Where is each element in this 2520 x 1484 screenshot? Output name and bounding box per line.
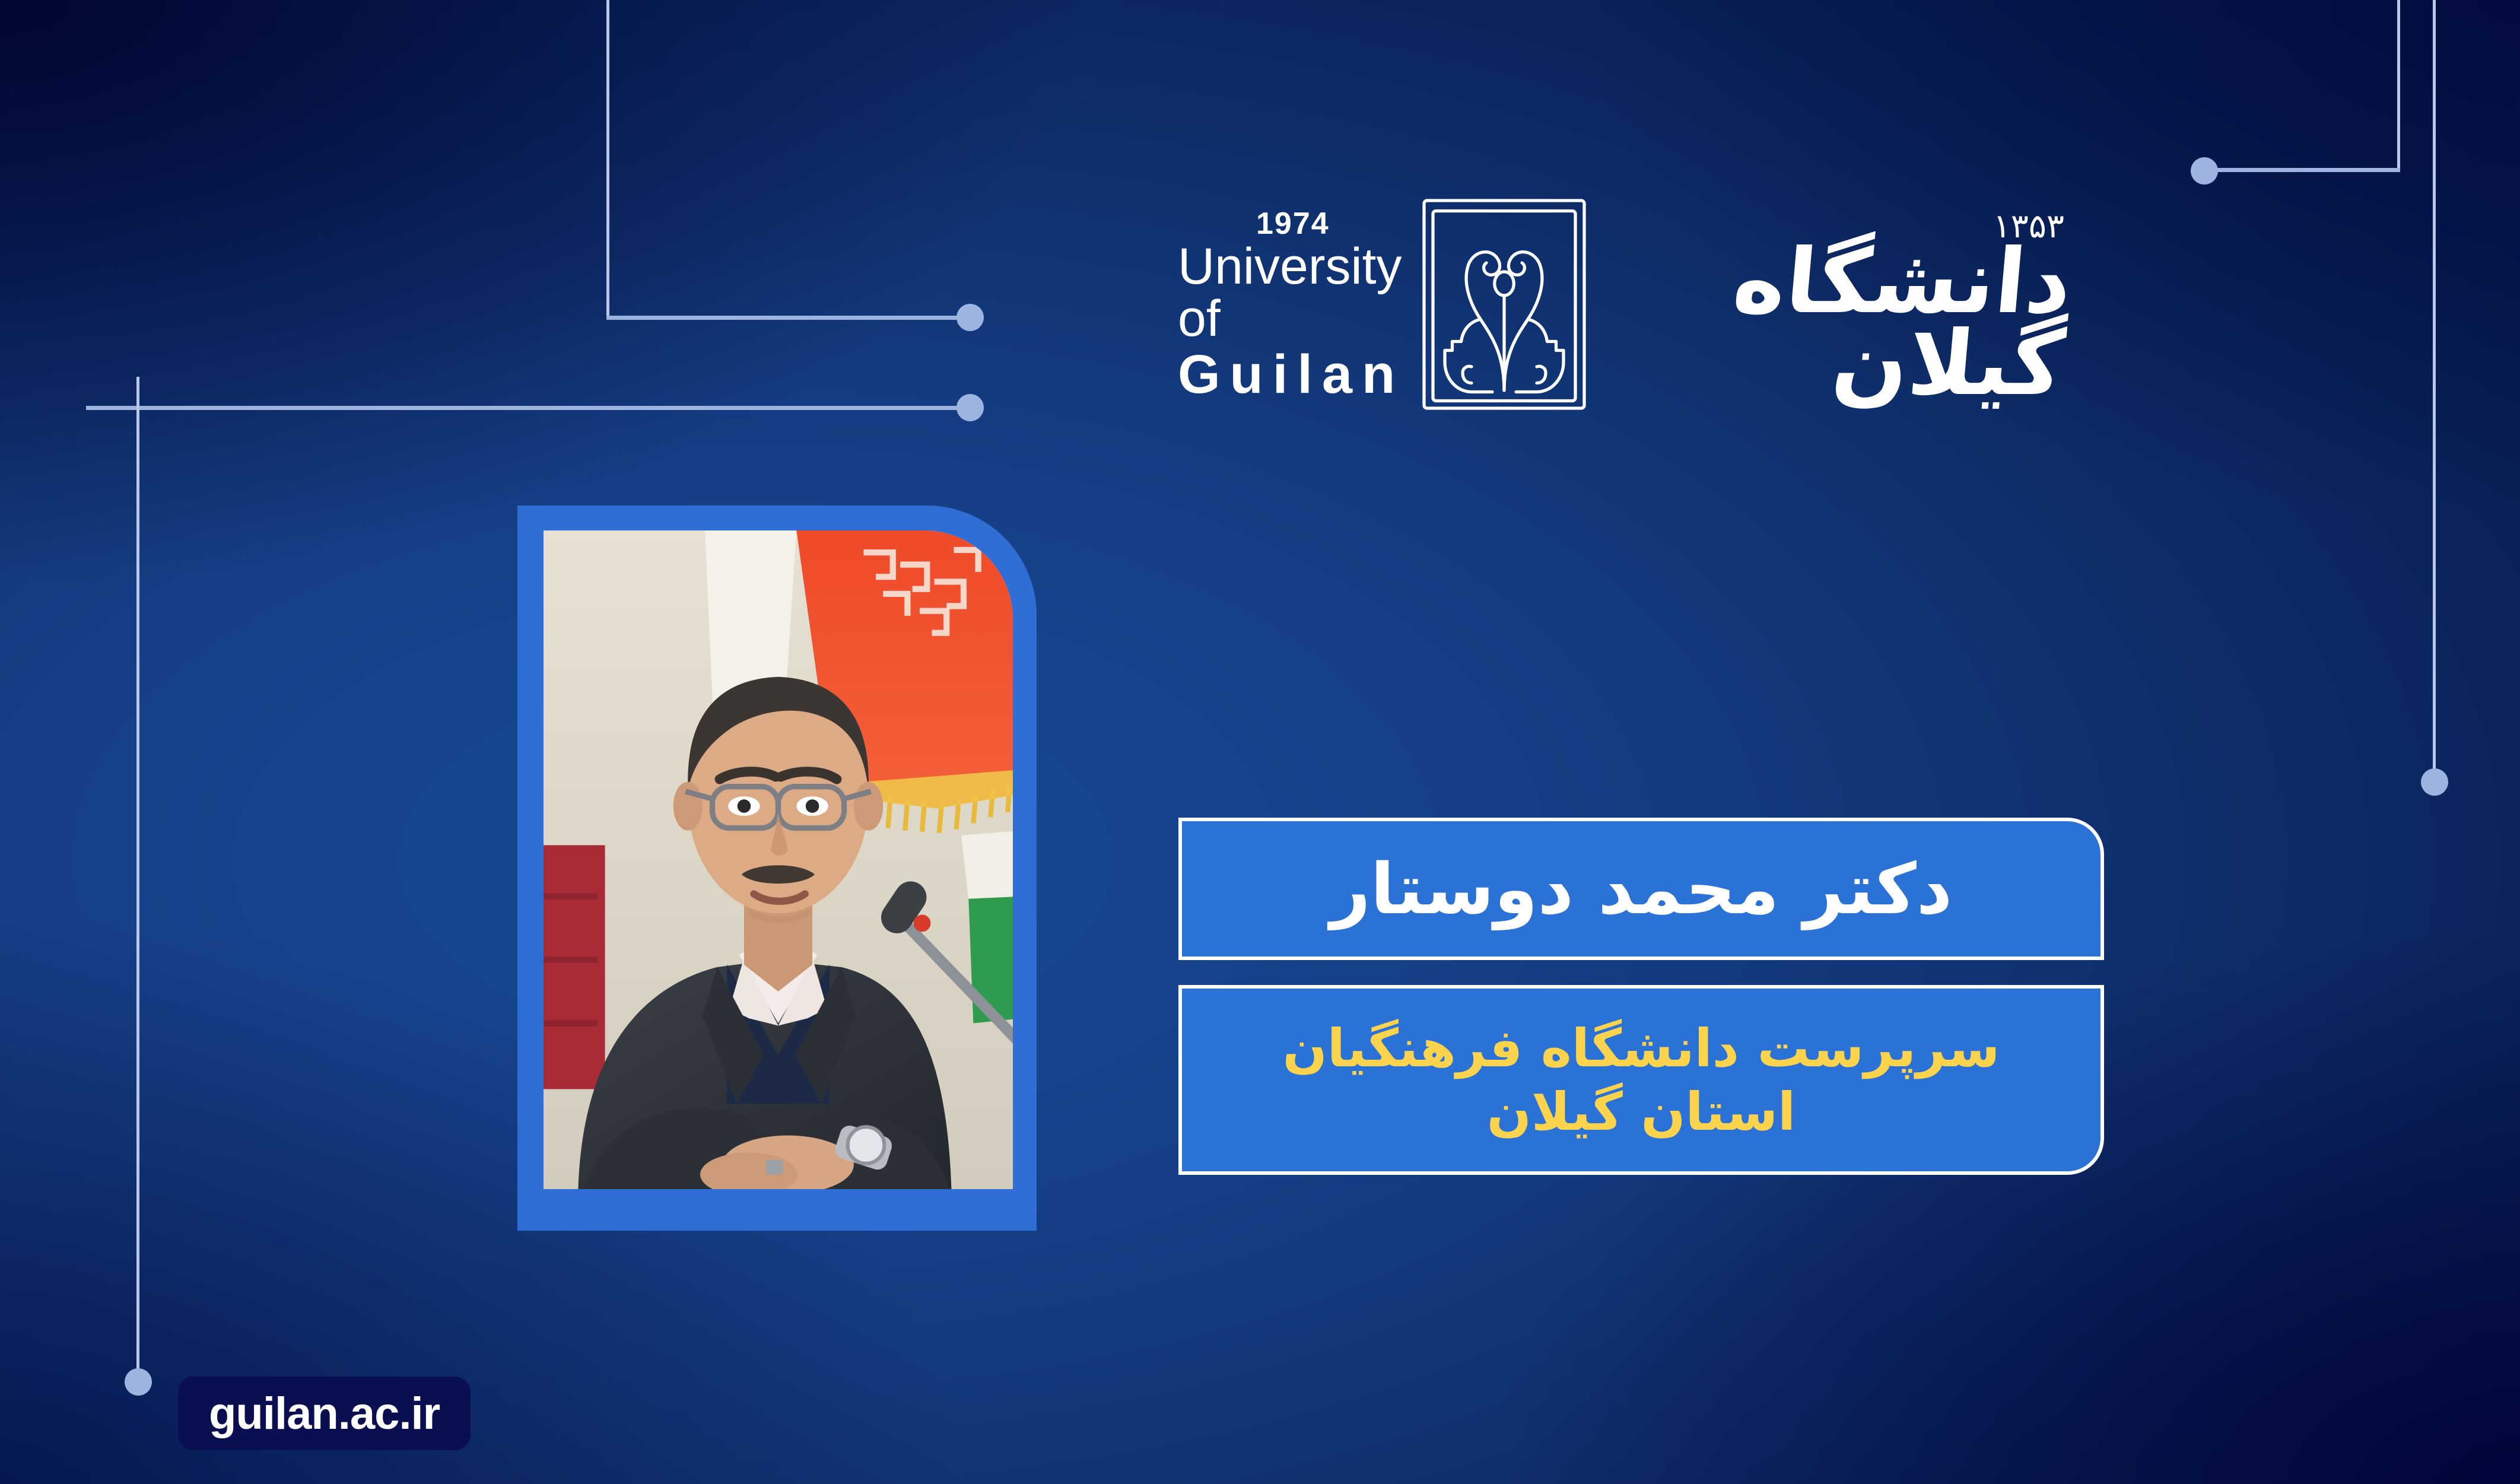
logo-english-line1: University of	[1178, 238, 1402, 347]
endpoint-dot-bottom-left	[125, 1368, 152, 1396]
deco-vertical-top-left	[606, 0, 609, 317]
deco-horizontal-top-left	[606, 316, 968, 320]
deco-horizontal-second	[86, 406, 970, 410]
logo-english-text: 1974 University of Guilan	[1178, 208, 1404, 403]
endpoint-dot-top-left	[956, 304, 984, 331]
deco-horizontal-top-right	[2201, 168, 2400, 172]
deco-vertical-right-long	[2433, 0, 2436, 771]
endpoint-dot-right	[2421, 768, 2448, 796]
deco-vertical-crossing	[136, 377, 139, 448]
logo-english-line2: Guilan	[1178, 347, 1404, 403]
endpoint-dot-top-right	[2191, 157, 2218, 185]
university-logo: 1974 University of Guilan	[1178, 178, 2068, 433]
person-name: دکتر محمد دوستار	[1330, 854, 1953, 924]
portrait-illustration	[544, 530, 1013, 1189]
logo-english-year: 1974	[1256, 208, 1404, 240]
logo-persian-name: دانشگاه گیلان	[1594, 241, 2075, 405]
person-title: سرپرست دانشگاه فرهنگیان استان گیلان	[1259, 1016, 2024, 1144]
logo-persian-text: ۱۳۵۳ دانشگاه گیلان	[1601, 207, 2068, 405]
endpoint-dot-second	[956, 394, 984, 421]
banner-canvas: 1974 University of Guilan	[0, 0, 2520, 1484]
deco-vertical-left-long	[136, 448, 139, 1374]
person-title-line1: سرپرست دانشگاه فرهنگیان	[1283, 1018, 2000, 1079]
person-name-badge: دکتر محمد دوستار	[1178, 818, 2104, 960]
person-title-line2: استان گیلان	[1487, 1081, 1796, 1142]
portrait-photo	[544, 530, 1013, 1189]
website-url: guilan.ac.ir	[209, 1388, 440, 1439]
deco-vertical-top-right	[2397, 0, 2400, 172]
person-title-badge: سرپرست دانشگاه فرهنگیان استان گیلان	[1178, 985, 2104, 1175]
guilan-university-emblem-icon	[1415, 195, 1593, 417]
website-pill[interactable]: guilan.ac.ir	[178, 1377, 471, 1450]
portrait-frame	[517, 506, 1037, 1231]
